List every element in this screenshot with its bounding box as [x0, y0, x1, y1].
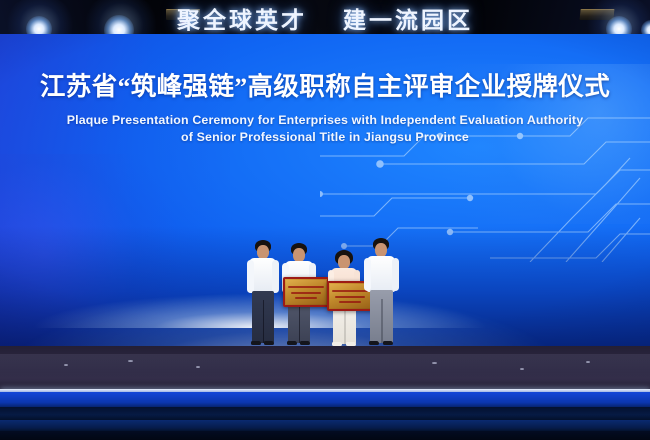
floor-reflection — [520, 368, 524, 370]
floor-reflection — [128, 360, 133, 362]
apron-band-1 — [0, 392, 650, 407]
event-title-english-line2: of Senior Professional Title in Jiangsu … — [0, 129, 650, 146]
apron-band-2 — [0, 407, 650, 420]
apron-band-4 — [0, 431, 650, 440]
stage-apron — [0, 392, 650, 440]
floor-reflection — [196, 366, 200, 368]
ceiling-truss-area: 聚全球英才 建一流园区 — [0, 0, 650, 34]
floor-sheen — [0, 354, 650, 384]
ceiling-headline: 聚全球英才 建一流园区 — [0, 2, 650, 34]
floor-reflection — [64, 364, 68, 366]
apron-band-3 — [0, 420, 650, 431]
event-title-english: Plaque Presentation Ceremony for Enterpr… — [0, 112, 650, 145]
floor-reflection — [432, 362, 437, 364]
floor-reflection — [586, 361, 590, 363]
event-title-chinese: 江苏省“筑峰强链”高级职称自主评审企业授牌仪式 — [0, 66, 650, 103]
stage-floor — [0, 346, 650, 392]
stage-photograph: 聚全球英才 建一流园区 — [0, 0, 650, 440]
ceiling-headline-left: 聚全球英才 — [177, 1, 307, 34]
title-block: 江苏省“筑峰强链”高级职称自主评审企业授牌仪式 Plaque Presentat… — [0, 66, 650, 145]
event-title-english-line1: Plaque Presentation Ceremony for Enterpr… — [0, 112, 650, 129]
ceiling-headline-right: 建一流园区 — [343, 1, 473, 34]
